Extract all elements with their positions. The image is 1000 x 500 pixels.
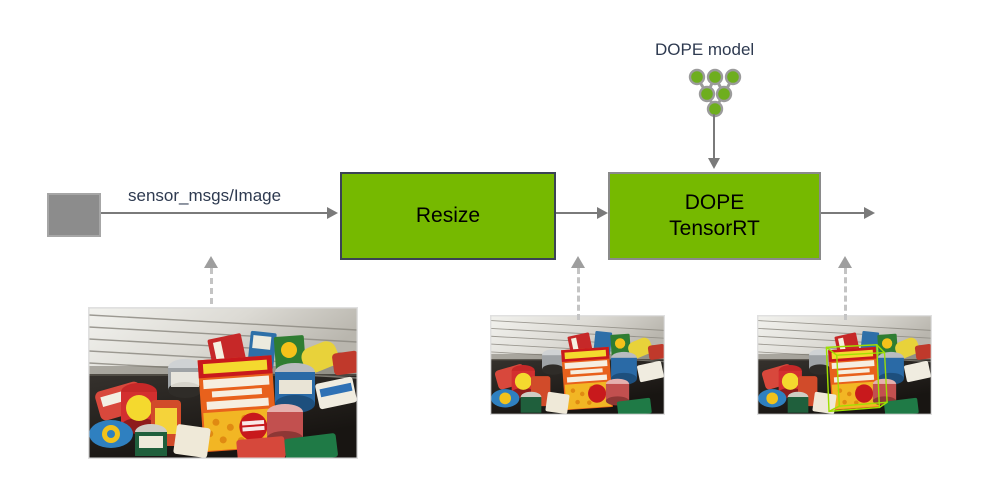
callout-input-image bbox=[210, 268, 213, 304]
dope-node-label: DOPE TensorRT bbox=[669, 190, 760, 242]
edge-resize-to-dope-arrowhead bbox=[597, 207, 608, 219]
edge-camera-to-resize bbox=[101, 212, 328, 214]
resize-node[interactable]: Resize bbox=[340, 172, 556, 260]
dope-model-label: DOPE model bbox=[655, 40, 754, 60]
neural-network-icon bbox=[686, 66, 744, 118]
resized-image-thumbnail bbox=[490, 315, 665, 415]
dope-tensorrt-node[interactable]: DOPE TensorRT bbox=[608, 172, 821, 260]
edge-camera-to-resize-arrowhead bbox=[327, 207, 338, 219]
edge-dope-to-output bbox=[821, 212, 865, 214]
camera-source-node[interactable] bbox=[47, 193, 101, 237]
topic-label-sensor-msgs-image: sensor_msgs/Image bbox=[128, 186, 281, 206]
callout-output-image bbox=[844, 268, 847, 320]
input-image-thumbnail bbox=[88, 307, 358, 459]
callout-output-image-arrowhead bbox=[838, 256, 852, 268]
edge-resize-to-dope bbox=[556, 212, 598, 214]
edge-model-to-dope bbox=[713, 114, 715, 160]
callout-input-image-arrowhead bbox=[204, 256, 218, 268]
dope-node-label-line2: TensorRT bbox=[669, 217, 760, 240]
resize-node-label: Resize bbox=[416, 203, 480, 229]
edge-model-to-dope-arrowhead bbox=[708, 158, 720, 169]
output-image-thumbnail bbox=[757, 315, 932, 415]
edge-dope-to-output-arrowhead bbox=[864, 207, 875, 219]
dope-node-label-line1: DOPE bbox=[685, 191, 745, 214]
callout-resized-image bbox=[577, 268, 580, 320]
callout-resized-image-arrowhead bbox=[571, 256, 585, 268]
diagram-canvas: Resize DOPE TensorRT sensor_msgs/Image D… bbox=[0, 0, 1000, 500]
